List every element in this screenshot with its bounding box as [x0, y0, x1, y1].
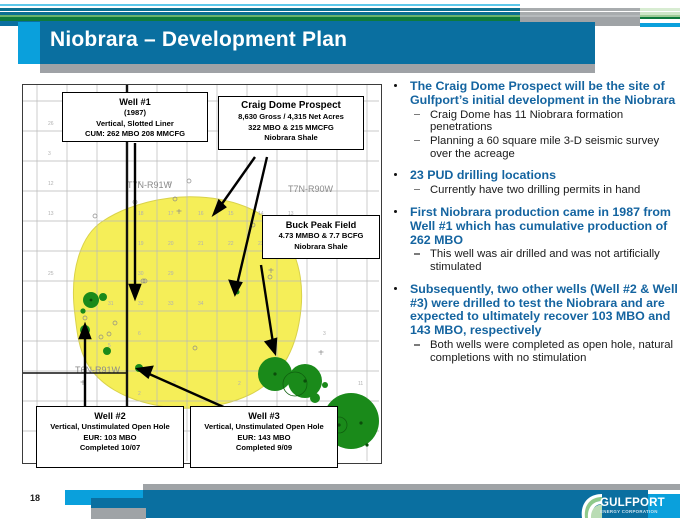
callout-well-3[interactable]: Well #3 Vertical, Unstimulated Open Hole…	[190, 406, 338, 468]
dash-icon	[414, 140, 420, 141]
callout-buck-peak-field[interactable]: Buck Peak Field 4.73 MMBO & 7.7 BCFG Nio…	[262, 215, 380, 259]
svg-text:13: 13	[48, 211, 54, 217]
callout-craig-dome-line-1: 8,630 Gross / 4,315 Net Acres	[223, 112, 359, 123]
callout-well-1-line-1: (1987)	[67, 108, 203, 119]
svg-text:31: 31	[108, 301, 114, 307]
svg-text:2: 2	[138, 391, 141, 397]
bullet-block-4: Subsequently, two other wells (Well #2 &…	[388, 283, 678, 365]
svg-text:15: 15	[228, 211, 234, 217]
svg-text:26: 26	[48, 121, 54, 127]
footer-blue-small	[91, 498, 146, 508]
bullet-1-sub-2-text: Planning a 60 square mile 3-D seismic su…	[430, 135, 659, 160]
gulfport-logo: GULFPORT ENERGY CORPORATION	[578, 492, 664, 522]
bullet-4-sub-1-text: Both wells were completed as open hole, …	[430, 339, 673, 364]
callout-well-3-line-2: EUR: 143 MBO	[195, 433, 333, 444]
svg-text:21: 21	[198, 241, 204, 247]
bullet-1-sub-1: Craig Dome has 11 Niobrara formation pen…	[388, 109, 678, 134]
svg-text:11: 11	[358, 381, 363, 387]
svg-text:25: 25	[48, 271, 54, 277]
decor-bar-green-right	[640, 17, 680, 19]
callout-well-1-line-2: Vertical, Slotted Liner	[67, 119, 203, 130]
bullet-block-1: The Craig Dome Prospect will be the site…	[388, 80, 678, 160]
page-title: Niobrara – Development Plan	[50, 28, 347, 52]
callout-well-1-line-3: CUM: 262 MBO 208 MMCFG	[67, 129, 203, 140]
bullet-1-level1: The Craig Dome Prospect will be the site…	[388, 80, 678, 108]
logo-subtitle: ENERGY CORPORATION	[600, 509, 658, 514]
logo-name: GULFPORT	[600, 497, 665, 509]
dash-icon	[414, 189, 420, 190]
bullet-1-sub-2: Planning a 60 square mile 3-D seismic su…	[388, 135, 678, 160]
svg-text:19: 19	[138, 241, 144, 247]
township-label-t7n-r90w: T7N-R90W	[288, 184, 334, 194]
bullet-dot-icon	[394, 84, 397, 87]
callout-craig-dome-line-2: 322 MBO & 215 MMCFG	[223, 123, 359, 134]
callout-buck-peak-line-2: Niobrara Shale	[267, 242, 375, 253]
bullet-block-3: First Niobrara production came in 1987 f…	[388, 206, 678, 274]
dash-icon	[414, 114, 420, 115]
bullet-dot-icon	[394, 173, 397, 176]
bullet-column: The Craig Dome Prospect will be the site…	[388, 80, 678, 470]
bullet-3-level1: First Niobrara production came in 1987 f…	[388, 206, 678, 248]
callout-buck-peak-line-1: 4.73 MMBO & 7.7 BCFG	[267, 231, 375, 242]
callout-craig-dome[interactable]: Craig Dome Prospect 8,630 Gross / 4,315 …	[218, 96, 364, 150]
page-number: 18	[30, 493, 40, 503]
svg-text:20: 20	[168, 241, 174, 247]
slide-root: Niobrara – Development Plan	[0, 0, 680, 529]
callout-well-3-line-1: Vertical, Unstimulated Open Hole	[195, 422, 333, 433]
bullet-2-level1: 23 PUD drilling locations	[388, 169, 678, 183]
callout-well-3-line-0: Well #3	[195, 410, 333, 422]
bullet-3-sub-1: This well was air drilled and was not ar…	[388, 248, 678, 273]
svg-text:34: 34	[198, 301, 204, 307]
svg-text:30: 30	[138, 271, 144, 277]
svg-text:17: 17	[168, 211, 174, 217]
callout-craig-dome-line-0: Craig Dome Prospect	[223, 100, 359, 112]
bullet-dot-icon	[394, 210, 397, 213]
bullet-4-level1-text: Subsequently, two other wells (Well #2 &…	[410, 282, 678, 338]
svg-text:2: 2	[238, 381, 241, 387]
title-under-bar	[40, 64, 595, 73]
bullet-2-level1-text: 23 PUD drilling locations	[410, 168, 556, 182]
footer-blue-main	[143, 490, 648, 518]
svg-text:6: 6	[138, 331, 141, 337]
title-accent-tab	[18, 22, 42, 64]
svg-text:12: 12	[48, 181, 54, 187]
callout-well-1[interactable]: Well #1 (1987) Vertical, Slotted Liner C…	[62, 92, 208, 142]
callout-well-2[interactable]: Well #2 Vertical, Unstimulated Open Hole…	[36, 406, 184, 468]
svg-text:32: 32	[138, 301, 144, 307]
bullet-block-2: 23 PUD drilling locations Currently have…	[388, 169, 678, 197]
svg-text:18: 18	[138, 211, 144, 217]
bullet-4-level1: Subsequently, two other wells (Well #2 &…	[388, 283, 678, 339]
callout-well-3-line-3: Completed 9/09	[195, 443, 333, 454]
svg-text:16: 16	[198, 211, 204, 217]
callout-well-2-line-0: Well #2	[41, 410, 179, 422]
svg-text:33: 33	[168, 301, 174, 307]
svg-text:29: 29	[168, 271, 174, 277]
decor-bar-cyan-right	[640, 23, 680, 27]
dash-icon	[414, 253, 420, 254]
callout-well-2-line-1: Vertical, Unstimulated Open Hole	[41, 422, 179, 433]
svg-text:3: 3	[323, 331, 326, 337]
footer-gray-bottom	[91, 508, 146, 519]
bullet-1-sub-1-text: Craig Dome has 11 Niobrara formation pen…	[430, 109, 623, 134]
svg-text:22: 22	[228, 241, 234, 247]
callout-well-2-line-3: Completed 10/07	[41, 443, 179, 454]
bullet-3-level1-text: First Niobrara production came in 1987 f…	[410, 205, 671, 247]
callout-craig-dome-line-3: Niobrara Shale	[223, 133, 359, 144]
bullet-1-level1-text: The Craig Dome Prospect will be the site…	[410, 79, 675, 107]
bullet-2-sub-1: Currently have two drilling permits in h…	[388, 184, 678, 197]
svg-text:3: 3	[48, 151, 51, 157]
bullet-dot-icon	[394, 287, 397, 290]
dash-icon	[414, 344, 420, 345]
bullet-3-sub-1-text: This well was air drilled and was not ar…	[430, 248, 660, 273]
bullet-4-sub-1: Both wells were completed as open hole, …	[388, 339, 678, 364]
callout-well-1-line-0: Well #1	[67, 96, 203, 108]
callout-well-2-line-2: EUR: 103 MBO	[41, 433, 179, 444]
callout-buck-peak-line-0: Buck Peak Field	[267, 219, 375, 231]
bullet-2-sub-1-text: Currently have two drilling permits in h…	[430, 184, 640, 196]
